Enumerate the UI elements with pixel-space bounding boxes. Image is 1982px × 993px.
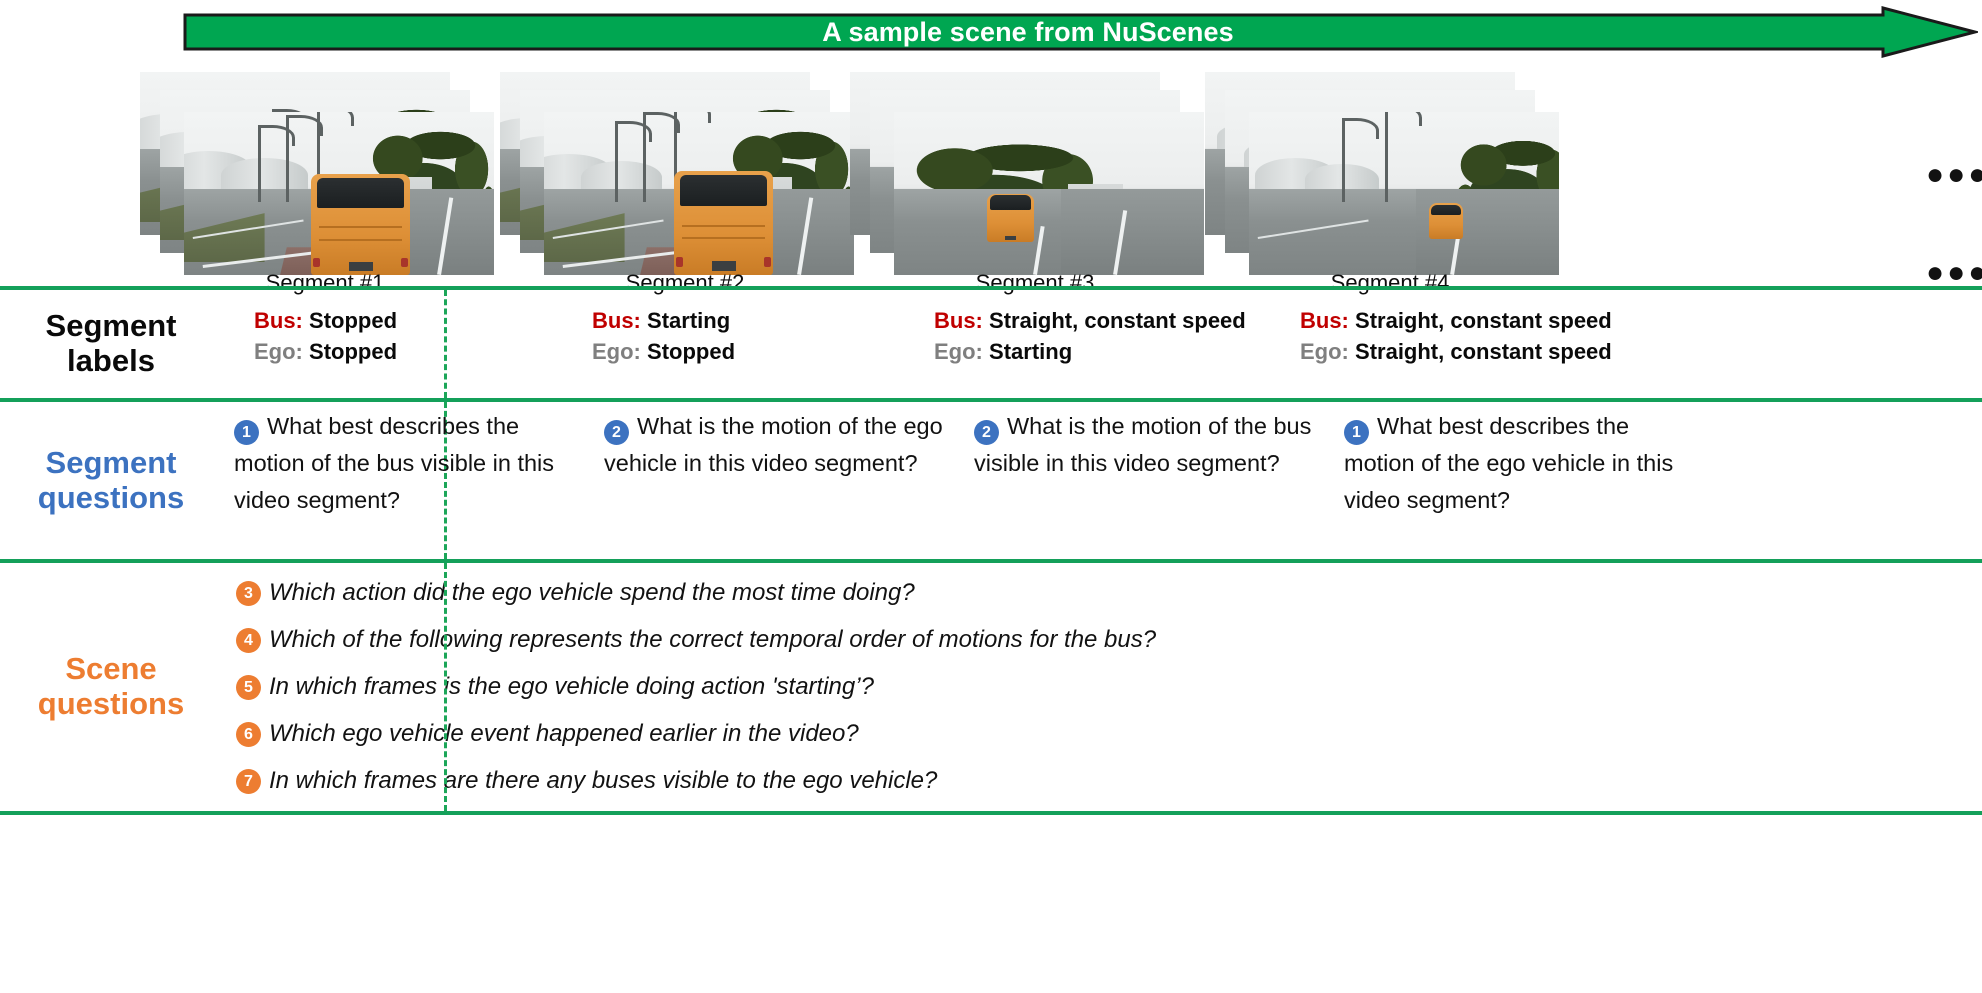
ego-value: Straight, constant speed bbox=[1355, 339, 1612, 364]
question-text: What is the motion of the ego vehicle in… bbox=[604, 413, 943, 476]
question-text: Which ego vehicle event happened earlier… bbox=[269, 718, 859, 749]
bus-value: Stopped bbox=[309, 308, 397, 333]
scene-question-item[interactable]: 4 Which of the following represents the … bbox=[236, 624, 1982, 671]
question-number-badge: 1 bbox=[1344, 420, 1369, 445]
question-text: What best describes the motion of the eg… bbox=[1344, 413, 1673, 513]
question-number-badge: 2 bbox=[974, 420, 999, 445]
scene-question-item[interactable]: 7 In which frames are there any buses vi… bbox=[236, 765, 1982, 812]
bus-value: Straight, constant speed bbox=[989, 308, 1246, 333]
video-frame-front bbox=[1249, 112, 1559, 275]
ego-value: Stopped bbox=[309, 339, 397, 364]
video-frame-front bbox=[544, 112, 854, 275]
question-text: In which frames is the ego vehicle doing… bbox=[269, 671, 874, 702]
row-header-line2: questions bbox=[38, 480, 184, 515]
row-header-scene-questions: Scene questions bbox=[0, 563, 222, 811]
segment-label-cell-2: Bus: Starting Ego: Stopped bbox=[574, 290, 924, 398]
bus-prefix: Bus: bbox=[1300, 308, 1349, 333]
question-number-badge: 2 bbox=[604, 420, 629, 445]
question-number-badge: 1 bbox=[234, 420, 259, 445]
row-body-scene-questions: 3 Which action did the ego vehicle spend… bbox=[222, 563, 1982, 811]
question-number-badge: 3 bbox=[236, 581, 261, 606]
segment-question-cell-2[interactable]: 2What is the motion of the ego vehicle i… bbox=[604, 402, 974, 559]
segment-thumbnail-group-1[interactable]: Segment #1 bbox=[140, 72, 510, 284]
segment-thumbnail-group-2[interactable]: Segment #2 bbox=[500, 72, 870, 284]
scene-question-item[interactable]: 3 Which action did the ego vehicle spend… bbox=[236, 577, 1982, 624]
row-body-segment-questions: 1What best describes the motion of the b… bbox=[222, 402, 1982, 559]
row-header-segment-questions: Segment questions bbox=[0, 402, 222, 559]
question-number-badge: 5 bbox=[236, 675, 261, 700]
more-segments-ellipsis: ●●● bbox=[1926, 258, 1982, 288]
table-row-segment-labels: Segment labels Bus: Stopped Ego: Stopped bbox=[0, 290, 1982, 398]
row-body-segment-labels: Bus: Stopped Ego: Stopped Bus: Starting … bbox=[222, 290, 1982, 398]
scene-annotation-table: Segment labels Bus: Stopped Ego: Stopped bbox=[0, 286, 1982, 815]
segment-label-cell-4: Bus: Straight, constant speed Ego: Strai… bbox=[1290, 290, 1710, 398]
row-header-line1: Segment bbox=[46, 308, 177, 343]
ego-prefix: Ego: bbox=[1300, 339, 1349, 364]
segment-label-cell-1: Bus: Stopped Ego: Stopped bbox=[234, 290, 574, 398]
segment-question-cell-3[interactable]: 2What is the motion of the bus visible i… bbox=[974, 402, 1344, 559]
row-header-line2: labels bbox=[67, 343, 155, 378]
segment-label-cell-3: Bus: Straight, constant speed Ego: Start… bbox=[924, 290, 1290, 398]
bus-value: Straight, constant speed bbox=[1355, 308, 1612, 333]
row-header-segment-labels: Segment labels bbox=[0, 290, 222, 398]
ego-value: Starting bbox=[989, 339, 1072, 364]
table-row-segment-questions: Segment questions 1What best describes t… bbox=[0, 402, 1982, 559]
segment-thumbnail-group-3[interactable]: Segment #3 bbox=[850, 72, 1220, 284]
row-header-line2: questions bbox=[38, 686, 184, 721]
ego-prefix: Ego: bbox=[592, 339, 641, 364]
bus-prefix: Bus: bbox=[254, 308, 303, 333]
scene-question-item[interactable]: 6 Which ego vehicle event happened earli… bbox=[236, 718, 1982, 765]
more-frames-ellipsis: ●●● bbox=[1926, 160, 1982, 190]
scene-banner: A sample scene from NuScenes bbox=[0, 0, 1982, 62]
question-text: In which frames are there any buses visi… bbox=[269, 765, 937, 796]
scene-question-item[interactable]: 5 In which frames is the ego vehicle doi… bbox=[236, 671, 1982, 718]
segment-thumbnail-strip: Segment #1 bbox=[0, 62, 1982, 286]
question-number-badge: 6 bbox=[236, 722, 261, 747]
row-header-line1: Scene bbox=[65, 651, 156, 686]
row-header-line1: Segment bbox=[46, 445, 177, 480]
bus-prefix: Bus: bbox=[934, 308, 983, 333]
ego-prefix: Ego: bbox=[934, 339, 983, 364]
question-text: Which action did the ego vehicle spend t… bbox=[269, 577, 915, 608]
question-number-badge: 7 bbox=[236, 769, 261, 794]
bus-value: Starting bbox=[647, 308, 730, 333]
right-arrow-icon bbox=[183, 6, 1978, 58]
question-text: What best describes the motion of the bu… bbox=[234, 413, 554, 513]
ego-prefix: Ego: bbox=[254, 339, 303, 364]
row-divider-dashed bbox=[444, 563, 447, 811]
question-text: Which of the following represents the co… bbox=[269, 624, 1156, 655]
question-text: What is the motion of the bus visible in… bbox=[974, 413, 1311, 476]
segment-thumbnail-group-4[interactable]: Segment #4 bbox=[1205, 72, 1575, 284]
video-frame-front bbox=[894, 112, 1204, 275]
ego-value: Stopped bbox=[647, 339, 735, 364]
table-row-scene-questions: Scene questions 3 Which action did the e… bbox=[0, 563, 1982, 811]
question-number-badge: 4 bbox=[236, 628, 261, 653]
bus-prefix: Bus: bbox=[592, 308, 641, 333]
segment-question-cell-4[interactable]: 1What best describes the motion of the e… bbox=[1344, 402, 1714, 559]
video-frame-front bbox=[184, 112, 494, 275]
segment-question-cell-1[interactable]: 1What best describes the motion of the b… bbox=[234, 402, 604, 559]
